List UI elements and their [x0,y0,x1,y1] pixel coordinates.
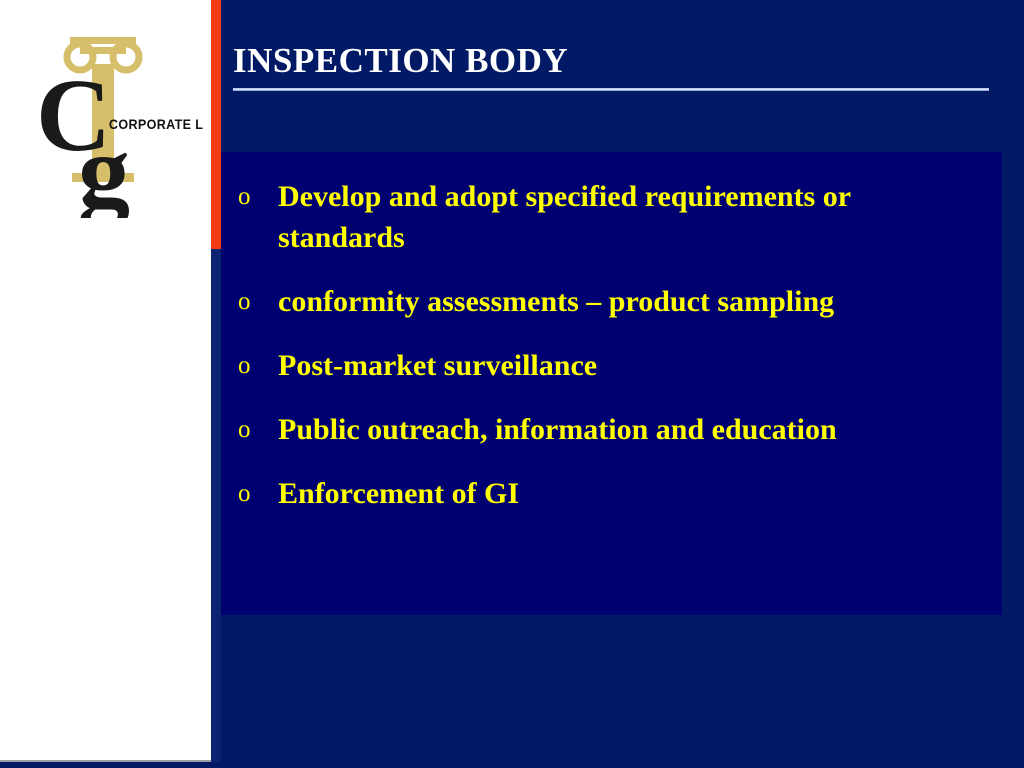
bullet-text: Enforcement of GI [278,473,976,514]
bullet-marker-icon: o [238,345,278,386]
list-item: o Enforcement of GI [238,473,976,514]
bullet-list: o Develop and adopt specified requiremen… [221,152,1002,514]
list-item: o Post-market surveillance [238,345,976,386]
list-item: o Public outreach, information and educa… [238,409,976,450]
sidebar-panel: C g CORPORATE LAW GROUP [0,0,211,762]
slide-canvas: C g CORPORATE LAW GROUP INSPECTION BODY … [0,0,1024,768]
list-item: o Develop and adopt specified requiremen… [238,176,976,258]
title-block: INSPECTION BODY [233,40,989,91]
bullet-text: conformity assessments – product samplin… [278,281,976,322]
corporate-law-group-logo: C g CORPORATE LAW GROUP [28,28,203,218]
bullet-text: Develop and adopt specified requirements… [278,176,976,258]
bullet-marker-icon: o [238,473,278,514]
bullet-text: Public outreach, information and educati… [278,409,976,450]
bullet-marker-icon: o [238,281,278,322]
bullet-text: Post-market surveillance [278,345,976,386]
content-panel: o Develop and adopt specified requiremen… [221,152,1002,615]
page-title: INSPECTION BODY [233,40,989,82]
list-item: o conformity assessments – product sampl… [238,281,976,322]
bullet-marker-icon: o [238,176,278,217]
accent-bar-tail [211,249,221,762]
bullet-marker-icon: o [238,409,278,450]
logo-wordmark: CORPORATE LAW GROUP [109,117,203,133]
title-underline [233,88,989,91]
accent-bar [211,0,221,249]
